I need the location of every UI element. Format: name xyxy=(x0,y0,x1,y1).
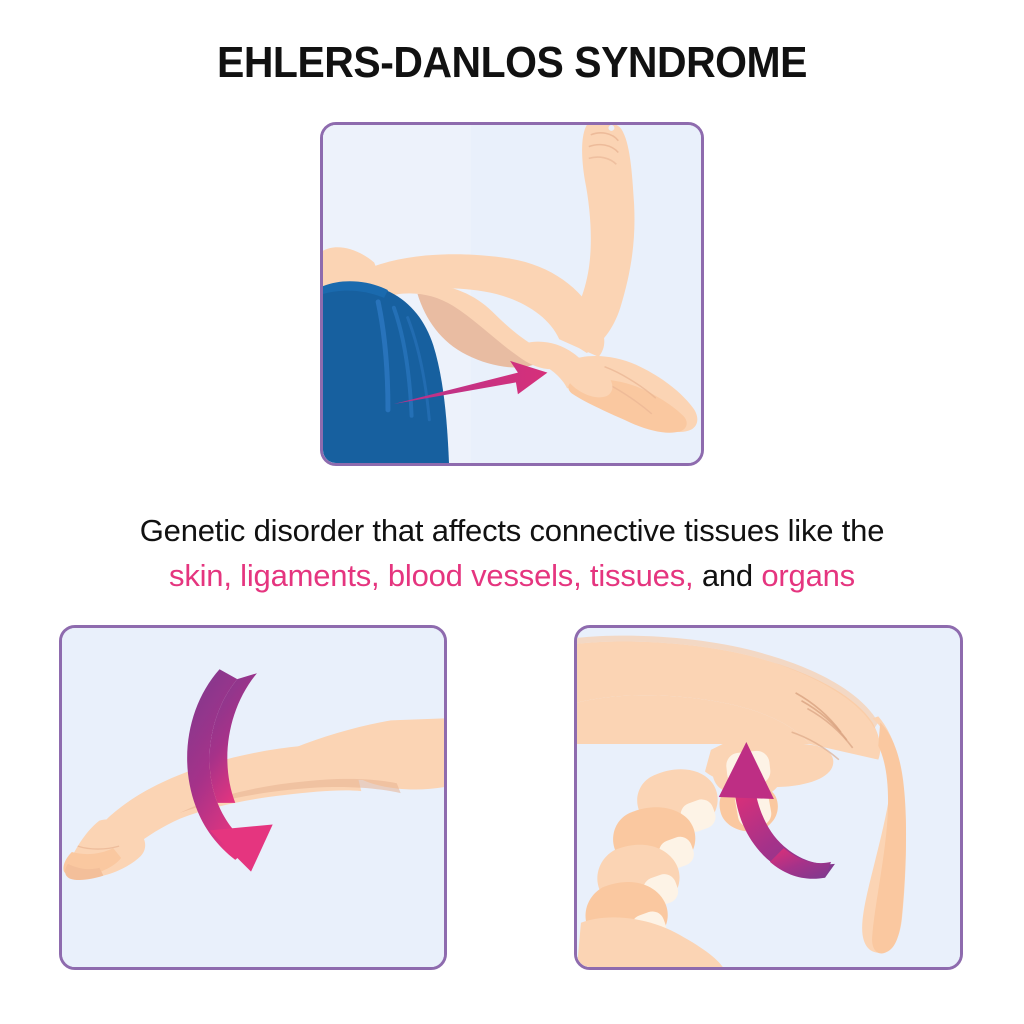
panel-thumb-hypermobility xyxy=(574,625,963,970)
caption-connector: and xyxy=(693,558,761,593)
panel-elbow-hyperextension xyxy=(59,625,447,970)
skin-hyperelasticity-illustration xyxy=(323,125,701,463)
thumb-hypermobility-illustration xyxy=(577,628,960,967)
caption-highlight-1: skin, ligaments, blood vessels, tissues, xyxy=(169,558,693,593)
infographic-root: EHLERS-DANLOS SYNDROME xyxy=(0,0,1024,1024)
page-title: EHLERS-DANLOS SYNDROME xyxy=(36,38,988,88)
caption-text: Genetic disorder that affects connective… xyxy=(50,508,974,598)
elbow-hyperextension-illustration xyxy=(62,628,444,967)
caption-highlight-2: organs xyxy=(761,558,855,593)
caption-line-1: Genetic disorder that affects connective… xyxy=(140,513,884,548)
panel-skin-hyperelasticity xyxy=(320,122,704,466)
